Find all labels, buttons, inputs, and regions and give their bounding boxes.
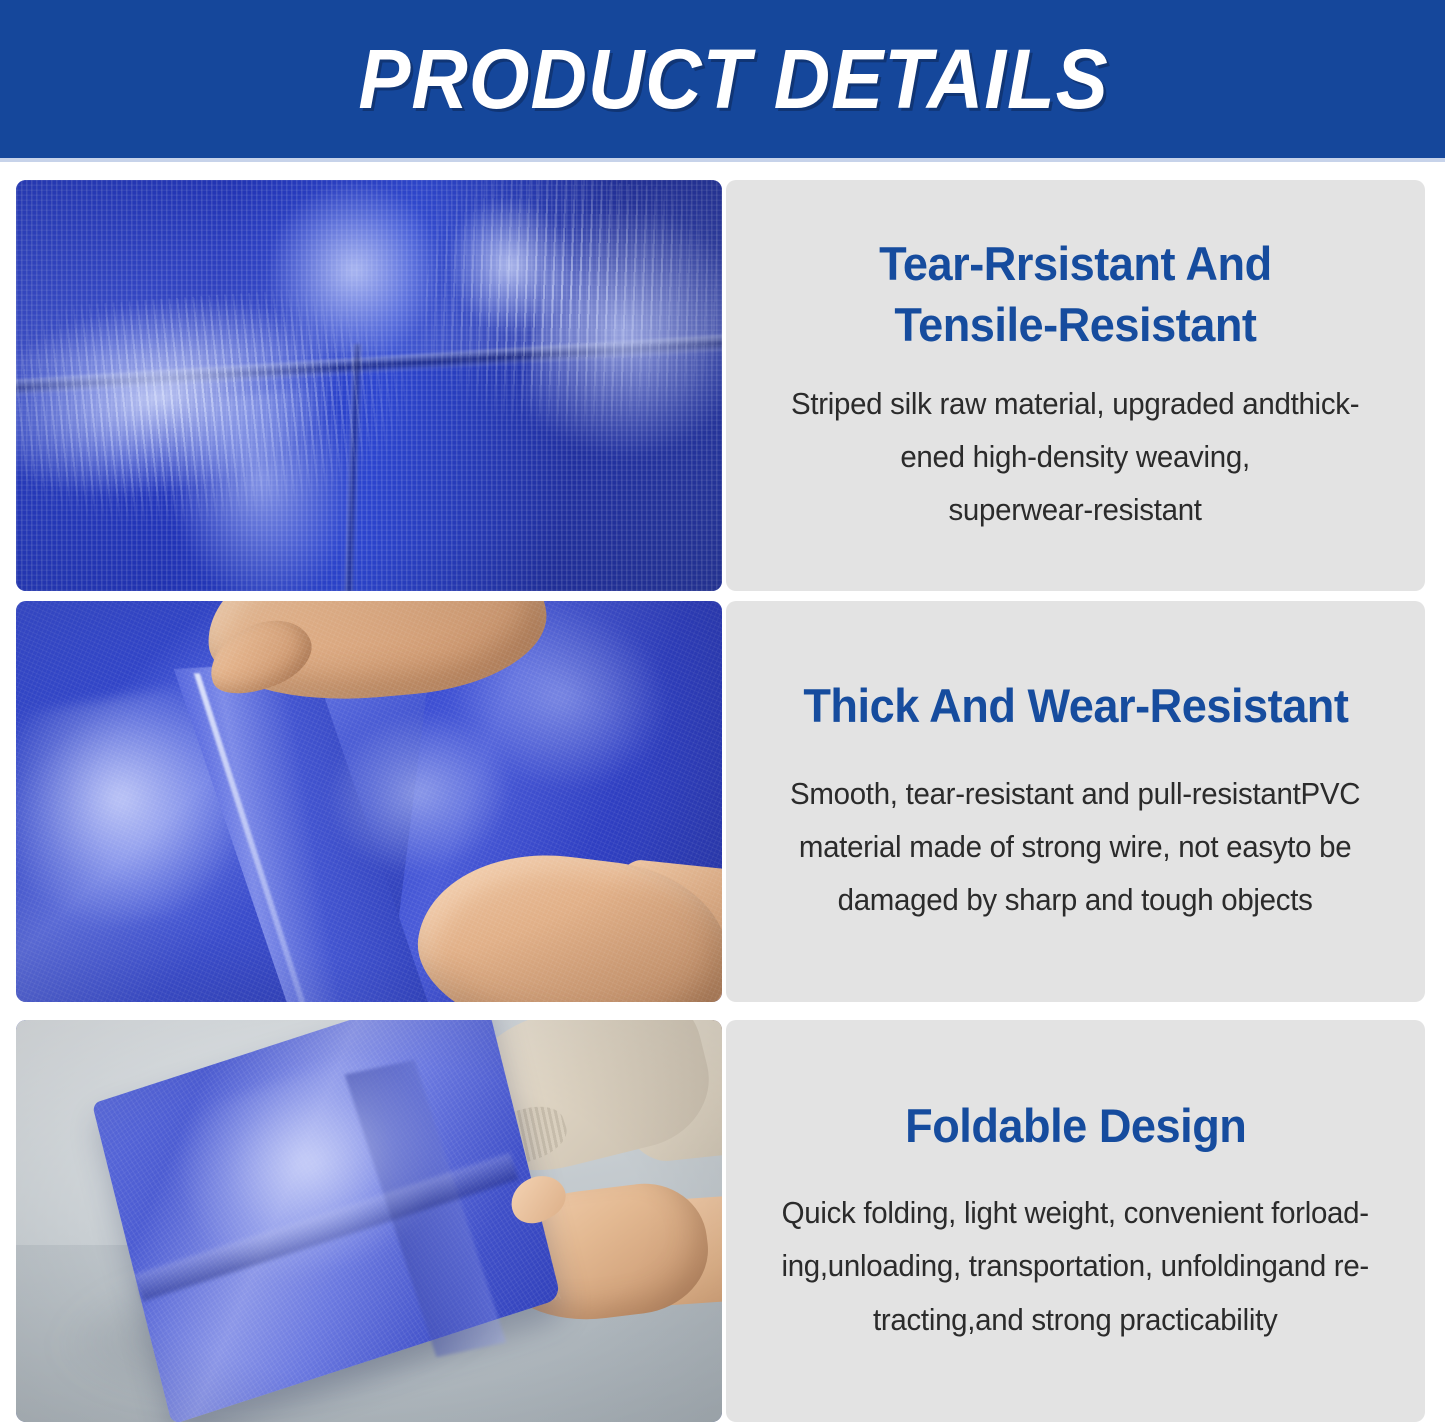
banner-underline (0, 158, 1445, 162)
feature-image-foldable (16, 1020, 722, 1422)
feature-row-1: Tear-Rrsistant And Tensile-Resistant Str… (16, 180, 1425, 591)
tarp-weave-texture-2 (16, 601, 722, 1002)
feature-text-panel-1: Tear-Rrsistant And Tensile-Resistant Str… (726, 180, 1425, 591)
product-details-page: PRODUCT DETAILS Tear-Rrsistant And Tensi… (0, 0, 1445, 1427)
feature-image-tear-resistant (16, 180, 722, 591)
tarp-highlight-e (161, 385, 366, 591)
feature-row-3: Foldable Design Quick folding, light wei… (16, 1020, 1425, 1422)
hands-stretching-tarp-graphic (16, 601, 722, 1002)
feature-body-1: Striped silk raw material, upgraded andt… (791, 377, 1359, 537)
feature-image-wear-resistant (16, 601, 722, 1002)
page-banner: PRODUCT DETAILS (0, 0, 1445, 158)
feature-body-3: Quick folding, light weight, convenient … (782, 1186, 1369, 1346)
feature-body-2: Smooth, tear-resistant and pull-resistan… (790, 767, 1360, 927)
feature-text-panel-2: Thick And Wear-Resistant Smooth, tear-re… (726, 601, 1425, 1002)
page-title: PRODUCT DETAILS (336, 37, 1109, 121)
feature-row-2: Thick And Wear-Resistant Smooth, tear-re… (16, 601, 1425, 1002)
tarp-highlight-b (260, 180, 449, 366)
feature-text-panel-3: Foldable Design Quick folding, light wei… (726, 1020, 1425, 1422)
feature-title-2: Thick And Wear-Resistant (803, 676, 1348, 736)
feature-title-1: Tear-Rrsistant And Tensile-Resistant (879, 234, 1271, 354)
folded-tarp-graphic (16, 1020, 722, 1422)
feature-title-3: Foldable Design (905, 1096, 1246, 1156)
